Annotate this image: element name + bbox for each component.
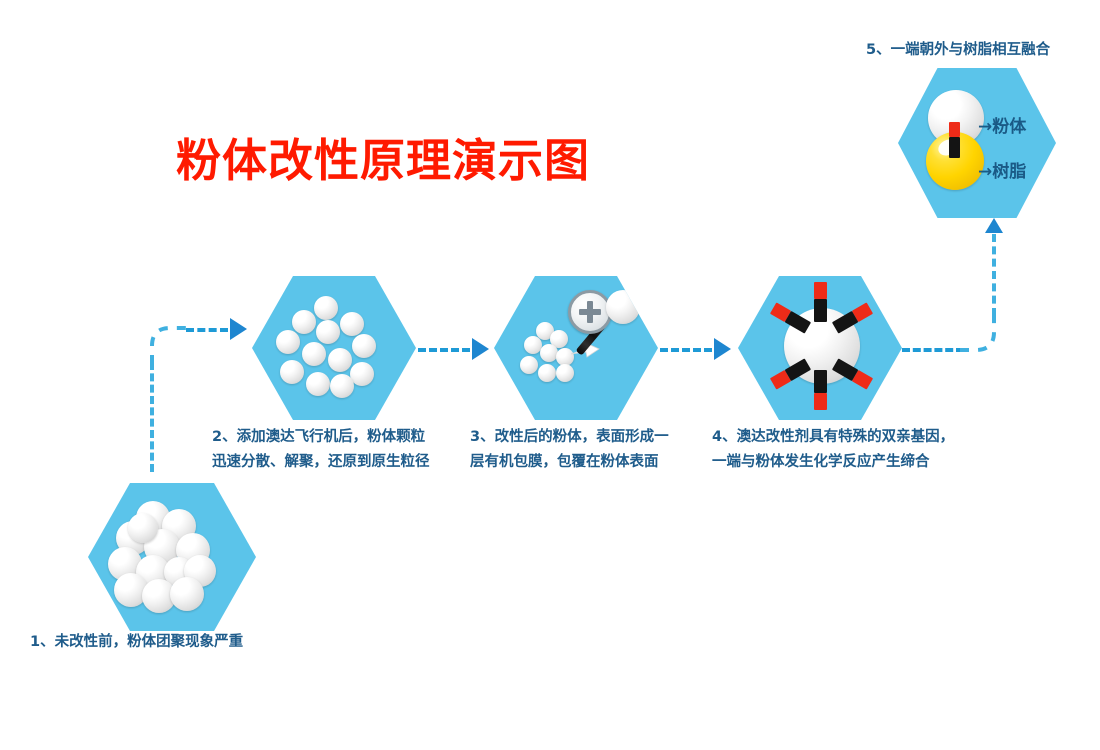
step-4-icon-particle-with-radiating-modifier-rods [738, 276, 902, 420]
powder-sphere [276, 330, 300, 354]
connector-4-corner [958, 312, 998, 352]
powder-sphere [340, 312, 364, 336]
powder-sphere [556, 364, 574, 382]
powder-sphere [316, 320, 340, 344]
step-4-caption-line-1: 4、澳达改性剂具有特殊的双亲基因， [712, 425, 954, 450]
step-3-caption-line-1: 3、改性后的粉体，表面形成一 [470, 425, 669, 450]
rod-black-segment [814, 370, 827, 393]
step-3-caption: 3、改性后的粉体，表面形成一 层有机包膜，包覆在粉体表面 [470, 425, 669, 475]
step-2-caption-line-2: 迅速分散、解聚，还原到原生粒径 [212, 450, 430, 475]
powder-sphere [352, 334, 376, 358]
step-4-hexagon[interactable] [738, 276, 902, 420]
step-5-caption: 5、一端朝外与树脂相互融合 [866, 38, 1050, 63]
connector-4-horizontal [902, 348, 964, 352]
step-1-caption: 1、未改性前，粉体团聚现象严重 [30, 630, 243, 655]
step-1-icon-agglomerated-powder-cluster [88, 483, 256, 631]
step-4-caption: 4、澳达改性剂具有特殊的双亲基因， 一端与粉体发生化学反应产生缔合 [712, 425, 954, 475]
powder-sphere [280, 360, 304, 384]
connector-2-line [418, 348, 470, 352]
magnifier-plus-vertical [587, 301, 593, 323]
powder-sphere [330, 374, 354, 398]
powder-sphere [328, 348, 352, 372]
step-3-caption-line-2: 层有机包膜，包覆在粉体表面 [470, 450, 669, 475]
modifier-rod [949, 122, 960, 158]
modifier-rod [814, 282, 827, 322]
connector-4-vertical [992, 234, 996, 316]
connector-4-arrowhead [985, 218, 1003, 233]
powder-sphere [302, 342, 326, 366]
magnified-powder-sphere [606, 290, 640, 324]
connector-2-arrowhead [472, 338, 489, 360]
step-1-hexagon[interactable] [88, 483, 256, 631]
step-1-caption-line-1: 1、未改性前，粉体团聚现象严重 [30, 630, 243, 655]
connector-3-line [660, 348, 712, 352]
connector-1-corner [150, 326, 190, 366]
rod-red-segment [814, 282, 827, 299]
page-title: 粉体改性原理演示图 [176, 135, 590, 187]
step-2-caption-line-1: 2、添加澳达飞行机后，粉体颗粒 [212, 425, 430, 450]
connector-3-arrowhead [714, 338, 731, 360]
connector-1-horizontal [186, 328, 228, 332]
step-5-caption-line-1: 5、一端朝外与树脂相互融合 [866, 38, 1050, 63]
rod-red-segment [949, 122, 960, 137]
powder-sphere [306, 372, 330, 396]
powder-sphere [540, 344, 558, 362]
powder-sphere [314, 296, 338, 320]
powder-sphere [538, 364, 556, 382]
step-2-hexagon[interactable] [252, 276, 416, 420]
legend-powder-label: →粉体 [978, 112, 1026, 137]
step-3-icon-magnifier-zoom-particle [494, 276, 658, 420]
step-2-caption: 2、添加澳达飞行机后，粉体颗粒 迅速分散、解聚，还原到原生粒径 [212, 425, 430, 475]
powder-sphere [128, 513, 158, 543]
diagram-canvas: 粉体改性原理演示图 1、未改 [0, 0, 1100, 750]
powder-sphere [292, 310, 316, 334]
connector-1-arrowhead [230, 318, 247, 340]
step-4-caption-line-2: 一端与粉体发生化学反应产生缔合 [712, 450, 954, 475]
rod-red-segment [814, 393, 827, 410]
step-2-icon-dispersed-powder-particles [252, 276, 416, 420]
step-3-hexagon[interactable] [494, 276, 658, 420]
step-5-icon-powder-resin-bonding [898, 68, 1056, 218]
step-5-hexagon[interactable] [898, 68, 1056, 218]
rod-black-segment [949, 137, 960, 158]
rod-black-segment [814, 299, 827, 322]
powder-sphere [170, 577, 204, 611]
modifier-rod [814, 370, 827, 410]
powder-sphere [520, 356, 538, 374]
connector-1-vertical [150, 362, 154, 472]
magnifier-glass-icon [568, 290, 612, 334]
legend-resin-label: →树脂 [978, 157, 1026, 182]
